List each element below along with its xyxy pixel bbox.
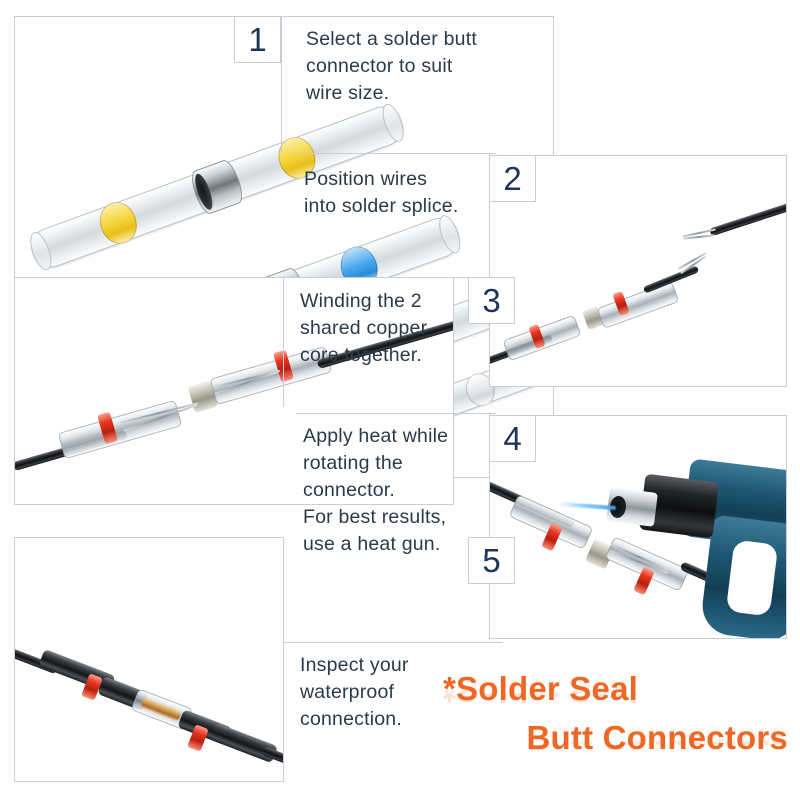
heat-gun-handle-cutout — [726, 540, 778, 617]
brand-line-2: Butt Connectors Butt Connectors — [443, 721, 788, 756]
connector-cap-right — [378, 101, 408, 144]
size-ring-yellow-left — [94, 197, 142, 249]
step-4-number: 4 — [503, 422, 521, 455]
step-3-number-badge: 3 — [468, 277, 515, 324]
step-2-number: 2 — [503, 162, 521, 195]
step-1-divider-vertical — [281, 16, 282, 153]
brand-wordmark: *Solder Seal *Solder Seal Butt Connector… — [443, 672, 788, 755]
splice-tube-right — [597, 281, 680, 329]
wire-upper-right — [709, 200, 787, 237]
step-5-number: 5 — [482, 544, 500, 577]
step-1-text: Select a solder butt connector to suit w… — [306, 26, 536, 107]
connector-cap-left — [26, 229, 56, 272]
step-5-number-badge: 5 — [468, 537, 515, 584]
step-3-divider-vertical — [283, 277, 284, 407]
step-2-text: Position wires into solder splice. — [304, 166, 504, 220]
step-4-number-badge: 4 — [489, 415, 536, 462]
step-5-divider-top — [283, 642, 503, 643]
brand-line-1-text: *Solder Seal — [443, 670, 638, 707]
step-5-image-panel — [14, 537, 284, 782]
step-3-number: 3 — [482, 284, 500, 317]
step-5-divider-vertical — [283, 537, 284, 642]
brand-line-1: *Solder Seal *Solder Seal — [443, 672, 788, 707]
step-4-divider-top — [296, 413, 496, 414]
brand-line-2-text: Butt Connectors — [527, 719, 789, 756]
step-1-number: 1 — [248, 23, 266, 56]
step-2-divider-top — [296, 153, 496, 154]
step-1-number-badge: 1 — [234, 16, 281, 63]
solder-sleeve — [188, 158, 247, 217]
connector-tube-left — [58, 400, 183, 460]
step-2-number-badge: 2 — [489, 155, 536, 202]
finished-waterproof-joint-photo — [15, 538, 283, 781]
